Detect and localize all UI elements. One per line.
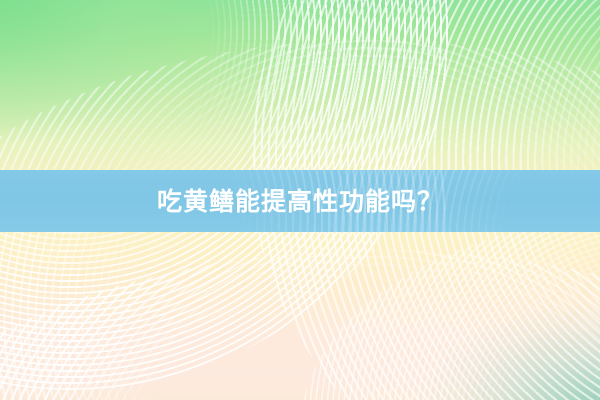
title-banner: 吃黄鳝能提高性功能吗？ — [0, 170, 600, 232]
poster-title: 吃黄鳝能提高性功能吗？ — [157, 189, 443, 214]
poster-image: 吃黄鳝能提高性功能吗？ — [0, 0, 600, 400]
